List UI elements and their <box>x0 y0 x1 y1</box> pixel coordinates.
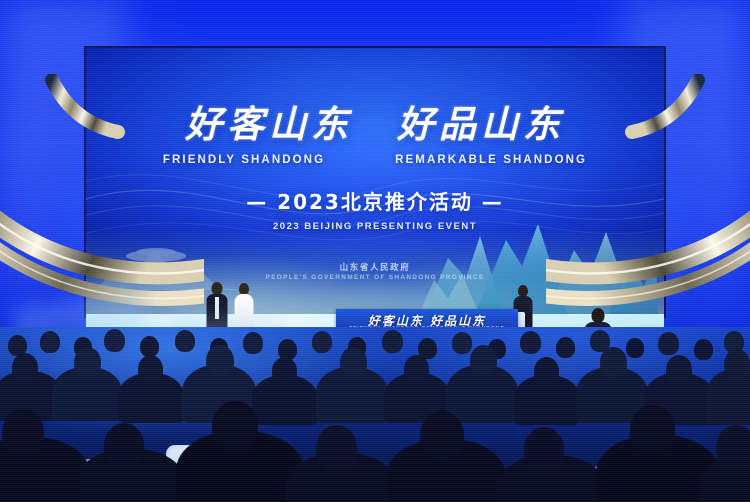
event-title-cn: — 2023北京推介活动 — <box>86 186 664 215</box>
main-title-right-en: REMARKABLE SHANDONG <box>395 154 587 166</box>
event-title-en: 2023 BEIJING PRESENTING EVENT <box>86 221 664 232</box>
main-title-cn: 好客山东 好品山东 <box>86 106 664 143</box>
organizer-en: PEOPLE'S GOVERNMENT OF SHANDONG PROVINCE <box>86 274 664 281</box>
main-title-en: FRIENDLY SHANDONG REMARKABLE SHANDONG <box>86 154 664 166</box>
main-title-left-cn: 好客山东 <box>185 106 353 143</box>
screen-title-block: 好客山东 好品山东 FRIENDLY SHANDONG REMARKABLE S… <box>86 106 664 232</box>
led-backdrop-screen: 好客山东 好品山东 FRIENDLY SHANDONG REMARKABLE S… <box>86 48 664 316</box>
main-title-left-en: FRIENDLY SHANDONG <box>163 154 325 166</box>
event-stage-photo: 好客山东 好品山东 FRIENDLY SHANDONG REMARKABLE S… <box>0 0 750 502</box>
main-title-right-cn: 好品山东 <box>397 106 565 143</box>
organizer-cn: 山东省人民政府 <box>86 261 664 273</box>
audience-area <box>0 327 750 502</box>
